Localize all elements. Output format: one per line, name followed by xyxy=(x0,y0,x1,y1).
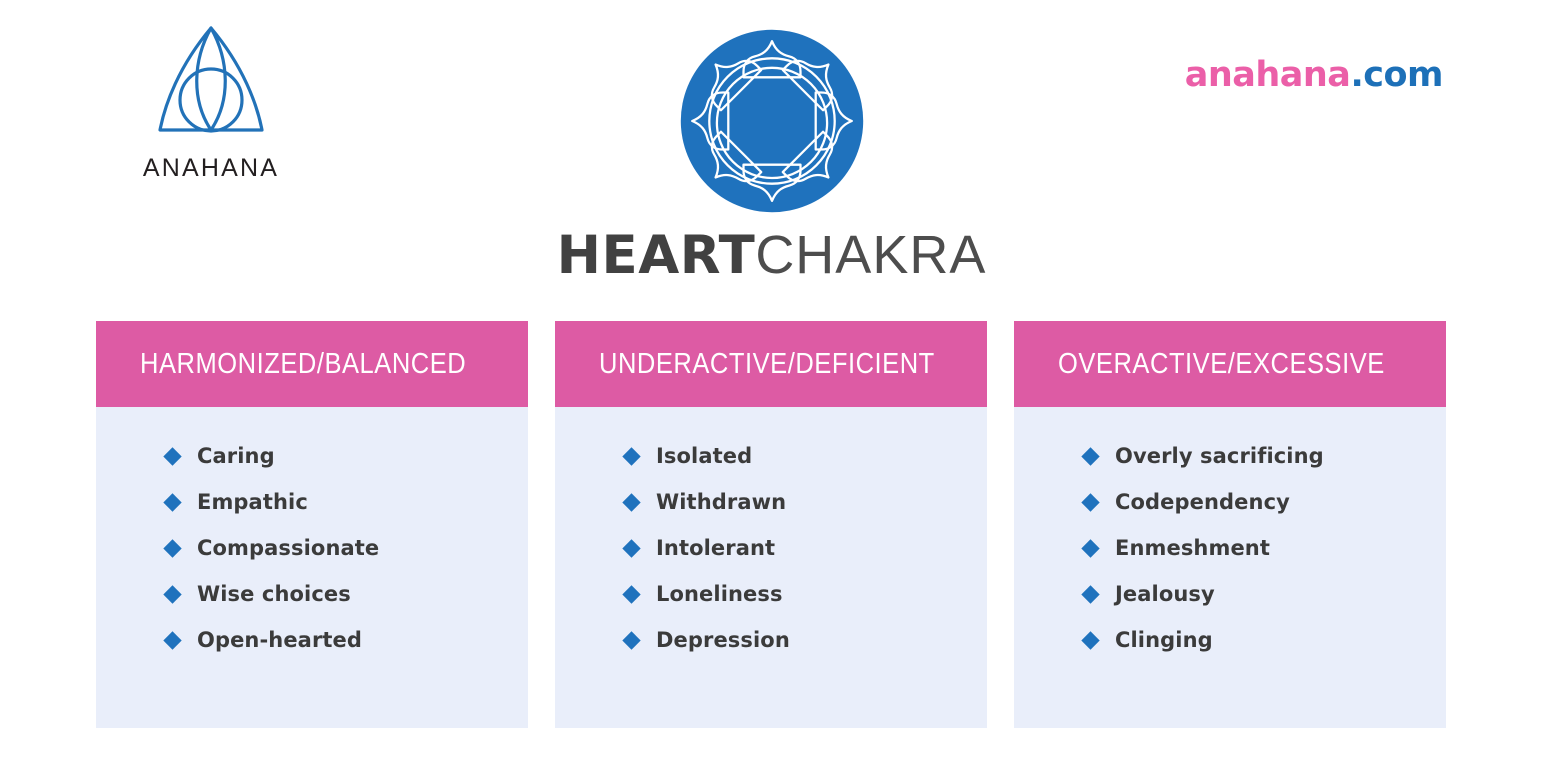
list-item-label: Jealousy xyxy=(1115,582,1215,606)
column-body-harmonized: Caring Empathic Compassionate Wise choic… xyxy=(96,407,528,728)
list-item: Empathic xyxy=(166,479,528,525)
list-item: Jealousy xyxy=(1084,571,1446,617)
diamond-bullet-icon xyxy=(1081,585,1099,603)
bullet-list-underactive: Isolated Withdrawn Intolerant Loneliness… xyxy=(625,433,987,663)
column-header-label: OVERACTIVE/EXCESSIVE xyxy=(1058,348,1385,381)
list-item-label: Overly sacrificing xyxy=(1115,444,1324,468)
column-header-harmonized: HARMONIZED/BALANCED xyxy=(96,321,528,407)
diamond-bullet-icon xyxy=(1081,631,1099,649)
bullet-list-harmonized: Caring Empathic Compassionate Wise choic… xyxy=(166,433,528,663)
chakra-state-columns: HARMONIZED/BALANCED Caring Empathic Comp… xyxy=(96,321,1446,728)
diamond-bullet-icon xyxy=(622,493,640,511)
page-title-bold: HEART xyxy=(557,225,756,286)
site-url[interactable]: anahana.com xyxy=(1185,58,1443,93)
list-item: Codependency xyxy=(1084,479,1446,525)
page-title-light: CHAKRA xyxy=(755,225,986,285)
diamond-bullet-icon xyxy=(163,447,181,465)
column-header-label: HARMONIZED/BALANCED xyxy=(140,348,466,381)
list-item: Depression xyxy=(625,617,987,663)
column-overactive: OVERACTIVE/EXCESSIVE Overly sacrificing … xyxy=(1014,321,1446,728)
list-item-label: Clinging xyxy=(1115,628,1213,652)
list-item: Loneliness xyxy=(625,571,987,617)
bullet-list-overactive: Overly sacrificing Codependency Enmeshme… xyxy=(1084,433,1446,663)
list-item-label: Isolated xyxy=(656,444,752,468)
diamond-bullet-icon xyxy=(1081,493,1099,511)
diamond-bullet-icon xyxy=(622,539,640,557)
column-header-underactive: UNDERACTIVE/DEFICIENT xyxy=(555,321,987,407)
column-harmonized: HARMONIZED/BALANCED Caring Empathic Comp… xyxy=(96,321,528,728)
list-item-label: Depression xyxy=(656,628,790,652)
column-body-underactive: Isolated Withdrawn Intolerant Loneliness… xyxy=(555,407,987,728)
diamond-bullet-icon xyxy=(1081,447,1099,465)
diamond-bullet-icon xyxy=(163,493,181,511)
diamond-bullet-icon xyxy=(1081,539,1099,557)
list-item: Wise choices xyxy=(166,571,528,617)
diamond-bullet-icon xyxy=(622,585,640,603)
list-item-label: Compassionate xyxy=(197,536,379,560)
list-item-label: Enmeshment xyxy=(1115,536,1270,560)
list-item: Open-hearted xyxy=(166,617,528,663)
list-item: Withdrawn xyxy=(625,479,987,525)
page-title: HEARTCHAKRA xyxy=(0,228,1543,282)
list-item: Overly sacrificing xyxy=(1084,433,1446,479)
column-underactive: UNDERACTIVE/DEFICIENT Isolated Withdrawn… xyxy=(555,321,987,728)
list-item-label: Loneliness xyxy=(656,582,783,606)
heart-chakra-lotus-icon xyxy=(677,26,867,216)
list-item: Isolated xyxy=(625,433,987,479)
site-url-tld: .com xyxy=(1350,55,1443,95)
diamond-bullet-icon xyxy=(163,585,181,603)
diamond-bullet-icon xyxy=(163,539,181,557)
list-item-label: Wise choices xyxy=(197,582,351,606)
list-item: Intolerant xyxy=(625,525,987,571)
column-header-overactive: OVERACTIVE/EXCESSIVE xyxy=(1014,321,1446,407)
diamond-bullet-icon xyxy=(622,631,640,649)
diamond-bullet-icon xyxy=(163,631,181,649)
column-header-label: UNDERACTIVE/DEFICIENT xyxy=(599,348,935,381)
list-item-label: Open-hearted xyxy=(197,628,362,652)
list-item: Clinging xyxy=(1084,617,1446,663)
column-body-overactive: Overly sacrificing Codependency Enmeshme… xyxy=(1014,407,1446,728)
site-url-name: anahana xyxy=(1185,55,1351,95)
list-item: Caring xyxy=(166,433,528,479)
list-item-label: Caring xyxy=(197,444,275,468)
list-item-label: Withdrawn xyxy=(656,490,786,514)
list-item-label: Intolerant xyxy=(656,536,775,560)
list-item-label: Empathic xyxy=(197,490,308,514)
list-item: Enmeshment xyxy=(1084,525,1446,571)
list-item: Compassionate xyxy=(166,525,528,571)
diamond-bullet-icon xyxy=(622,447,640,465)
list-item-label: Codependency xyxy=(1115,490,1290,514)
